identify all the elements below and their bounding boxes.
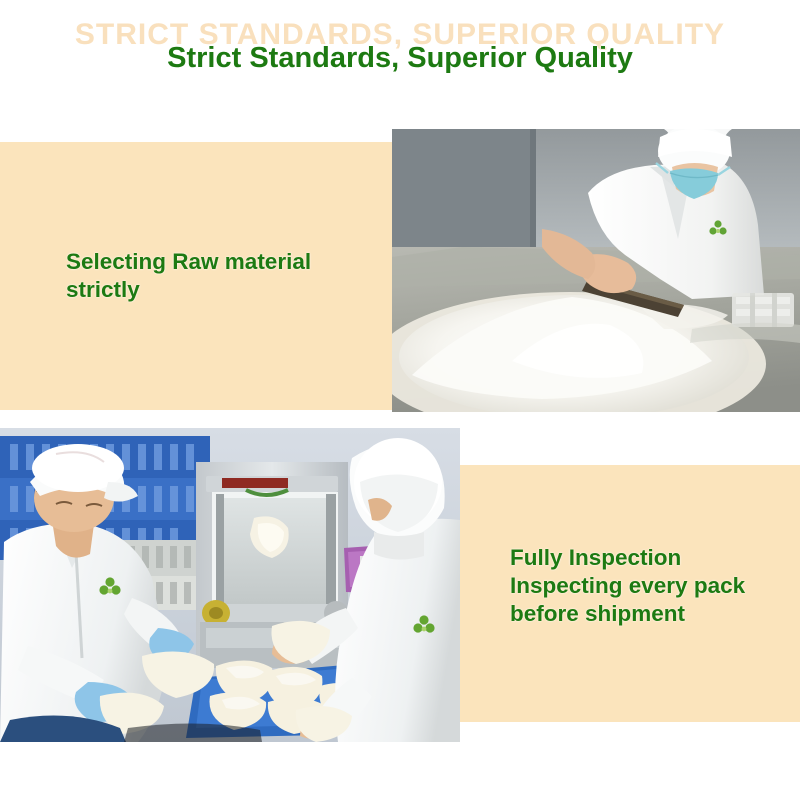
photo-packing-inspection-illustration — [0, 428, 460, 742]
photo-raw-material-spreading — [392, 129, 800, 412]
caption-text-raw-material: Selecting Raw material strictly — [66, 248, 376, 304]
promotional-banner: STRICT STANDARDS, SUPERIOR QUALITY Stric… — [0, 0, 800, 800]
photo-raw-material-illustration — [392, 129, 800, 412]
photo-packing-inspection — [0, 428, 460, 742]
page-title: Strict Standards, Superior Quality — [0, 42, 800, 75]
caption-text-inspection: Fully Inspection Inspecting every pack b… — [510, 544, 795, 628]
banner-header: STRICT STANDARDS, SUPERIOR QUALITY Stric… — [0, 0, 800, 130]
